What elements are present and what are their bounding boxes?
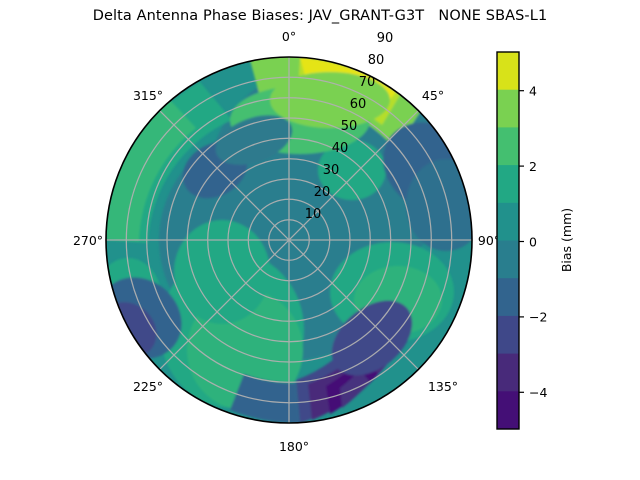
colorbar[interactable]: 4 2 0 −2 −4 Bias (mm)	[497, 52, 574, 430]
radial-label-10: 10	[305, 207, 322, 222]
angular-label-135: 135°	[428, 379, 458, 394]
colorbar-swatch-0	[497, 52, 519, 90]
radial-label-50: 50	[341, 119, 358, 134]
radial-label-90: 90	[377, 31, 394, 46]
colorbar-tick-0: 0	[529, 234, 537, 249]
contour-band-neg1-e	[406, 159, 486, 251]
colorbar-tick-4: 4	[529, 84, 537, 99]
radial-label-30: 30	[323, 163, 340, 178]
colorbar-tick-2: 2	[529, 159, 537, 174]
angular-label-315: 315°	[133, 88, 163, 103]
radial-label-20: 20	[314, 185, 331, 200]
colorbar-swatch-7	[497, 316, 519, 354]
colorbar-axis-label: Bias (mm)	[559, 208, 574, 272]
colorbar-swatches	[497, 52, 519, 430]
angular-label-225: 225°	[133, 379, 163, 394]
colorbar-swatch-2	[497, 127, 519, 165]
angular-label-45: 45°	[422, 88, 444, 103]
colorbar-tick-labels: 4 2 0 −2 −4	[529, 84, 547, 401]
radial-label-70: 70	[359, 75, 376, 90]
page-title: Delta Antenna Phase Biases: JAV_GRANT-G3…	[0, 8, 640, 24]
polar-contour-plot: 0° 45° 90° 135° 180° 225° 270° 315° 10 2…	[0, 0, 640, 480]
angular-label-180: 180°	[279, 439, 309, 454]
polar-grid	[106, 57, 472, 423]
colorbar-ticks	[519, 91, 524, 393]
colorbar-swatch-5	[497, 241, 519, 279]
angular-label-270: 270°	[73, 233, 103, 248]
radial-label-80: 80	[368, 53, 385, 68]
colorbar-swatch-4	[497, 203, 519, 241]
colorbar-tick-neg2: −2	[529, 310, 547, 325]
colorbar-swatch-9	[497, 391, 519, 429]
figure-canvas: Delta Antenna Phase Biases: JAV_GRANT-G3…	[0, 0, 640, 480]
colorbar-swatch-1	[497, 90, 519, 128]
radial-label-60: 60	[350, 97, 367, 112]
angular-label-0: 0°	[282, 29, 296, 44]
colorbar-swatch-8	[497, 354, 519, 392]
radial-label-40: 40	[332, 141, 349, 156]
colorbar-swatch-3	[497, 165, 519, 203]
colorbar-tick-neg4: −4	[529, 385, 547, 400]
colorbar-swatch-6	[497, 278, 519, 316]
